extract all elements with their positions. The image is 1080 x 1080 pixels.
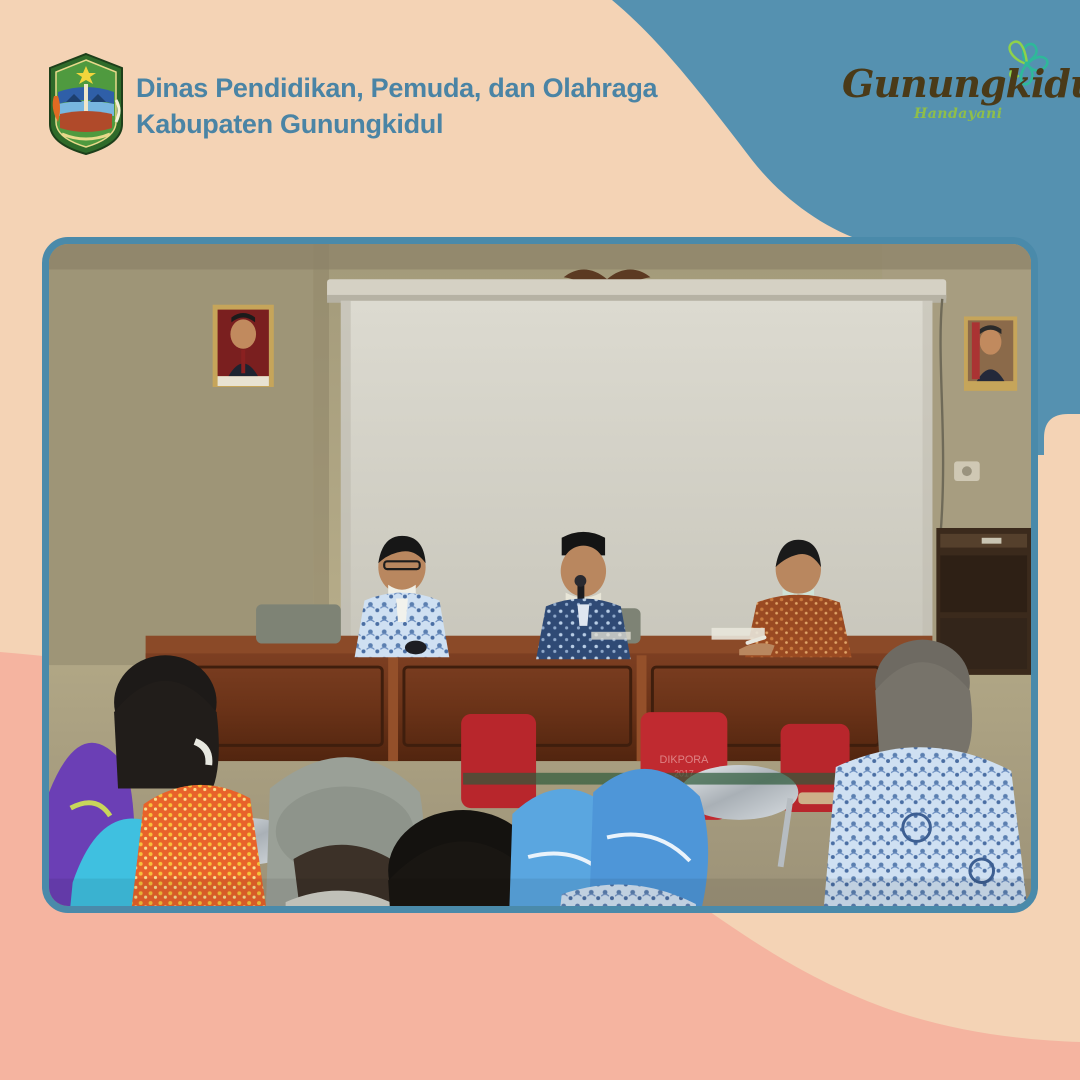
brand-tagline: Handayani: [914, 106, 1003, 122]
event-photo: DIKPORA 2017: [49, 244, 1031, 906]
gunungkidul-regency-crest-icon: [44, 52, 128, 156]
audience-man-dark-hair: [114, 655, 219, 788]
gunungkidul-handayani-brand: Gunungkidul Handayani: [842, 34, 1062, 144]
president-portrait-frame: [213, 305, 274, 387]
poster-canvas: Dinas Pendidikan, Pemuda, dan Olahraga K…: [0, 0, 1080, 1080]
footer-social-bar: @dikpora_gk pendidikan.gunungkidulkab.go…: [0, 930, 1080, 1080]
header-title-block: Dinas Pendidikan, Pemuda, dan Olahraga K…: [136, 70, 657, 142]
vice-president-portrait-frame: [964, 316, 1017, 390]
page-title-line-2: Kabupaten Gunungkidul: [136, 106, 657, 142]
brand-wordmark: Gunungkidul: [842, 64, 1042, 104]
event-photo-card: DIKPORA 2017: [42, 237, 1038, 913]
page-title-line-1: Dinas Pendidikan, Pemuda, dan Olahraga: [136, 70, 657, 106]
